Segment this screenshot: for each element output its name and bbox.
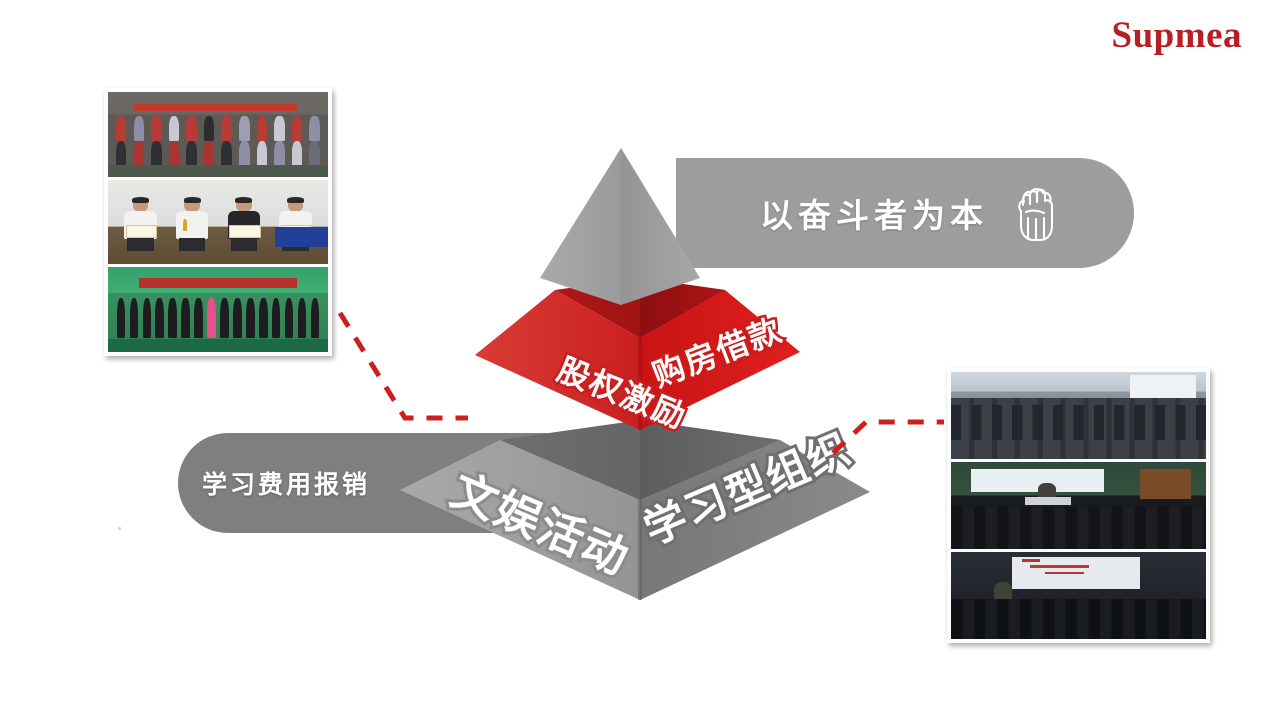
photo-ground — [108, 165, 328, 177]
photo-people-row — [112, 141, 323, 166]
photo-audience — [951, 405, 1206, 440]
photo-screen — [1012, 557, 1140, 588]
pyramid-face-apex-right[interactable] — [621, 148, 700, 305]
photo-audience — [951, 507, 1206, 549]
photo-door — [1140, 469, 1191, 499]
award-ceremony-photo — [108, 180, 328, 265]
photo-banner — [134, 104, 297, 112]
pyramid-diagram: 股权激励 购房借款 文娱活动 学习型组织 — [380, 130, 880, 620]
photo-speaker — [994, 582, 1012, 599]
supmea-logo: Supmea — [1112, 17, 1242, 54]
photo-podium — [1025, 497, 1071, 506]
right-photo-collage[interactable] — [947, 368, 1210, 643]
photo-window — [1130, 375, 1196, 399]
photo-ground — [108, 339, 328, 352]
pyramid-face-apex-left[interactable] — [540, 148, 621, 305]
photo-backdrop — [275, 227, 328, 247]
left-photo-collage[interactable] — [104, 88, 332, 356]
team-sports-group-photo — [108, 92, 328, 177]
fitness-event-group-photo — [108, 267, 328, 352]
slide-canvas: Supmea — [0, 0, 1280, 720]
presentation-meeting-photo — [951, 552, 1206, 639]
raised-fist-icon — [1014, 182, 1058, 244]
background-speck — [118, 527, 121, 530]
photo-banner — [139, 278, 297, 287]
banner-left-label: 学习费用报销 — [202, 465, 370, 501]
training-lecture-hall-photo — [951, 372, 1206, 459]
photo-people-row — [115, 298, 322, 339]
photo-people-row — [112, 116, 323, 141]
classroom-lecture-photo — [951, 462, 1206, 549]
photo-audience — [951, 599, 1206, 639]
